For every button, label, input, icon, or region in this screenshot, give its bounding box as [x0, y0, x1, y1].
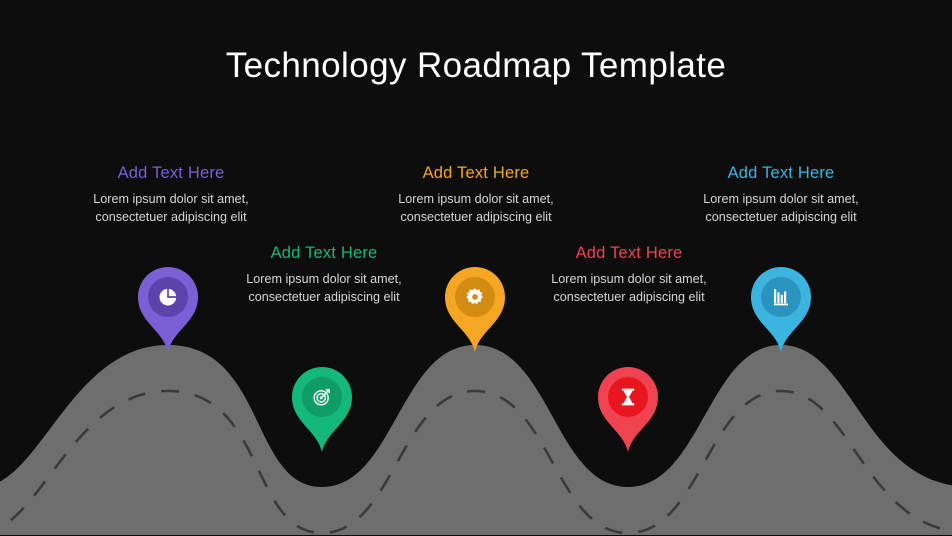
milestone-heading: Add Text Here — [224, 242, 424, 264]
hourglass-icon — [595, 379, 661, 415]
road-top-edge — [0, 345, 952, 487]
milestone-pin-3[interactable] — [442, 264, 508, 352]
milestone-body: Lorem ipsum dolor sit amet, consectetuer… — [224, 271, 424, 306]
bar-chart-icon — [748, 279, 814, 315]
milestone-heading: Add Text Here — [376, 162, 576, 184]
page-title: Technology Roadmap Template — [0, 44, 952, 88]
milestone-text-2: Add Text Here Lorem ipsum dolor sit amet… — [224, 242, 424, 306]
milestone-body: Lorem ipsum dolor sit amet, consectetuer… — [681, 191, 881, 226]
milestone-body: Lorem ipsum dolor sit amet, consectetuer… — [71, 191, 271, 226]
roadmap-slide: Technology Roadmap Template Add Text Her… — [0, 0, 952, 536]
road-dashed-centre-line — [0, 391, 952, 533]
milestone-pin-2[interactable] — [289, 364, 355, 452]
milestone-heading: Add Text Here — [529, 242, 729, 264]
milestone-text-4: Add Text Here Lorem ipsum dolor sit amet… — [529, 242, 729, 306]
milestone-heading: Add Text Here — [681, 162, 881, 184]
milestone-pin-5[interactable] — [748, 264, 814, 352]
road-surface — [0, 345, 952, 535]
target-icon — [289, 379, 355, 415]
milestone-heading: Add Text Here — [71, 162, 271, 184]
milestone-pin-1[interactable] — [135, 264, 201, 352]
pie-chart-icon — [135, 279, 201, 315]
milestone-text-3: Add Text Here Lorem ipsum dolor sit amet… — [376, 162, 576, 226]
milestone-text-5: Add Text Here Lorem ipsum dolor sit amet… — [681, 162, 881, 226]
milestone-body: Lorem ipsum dolor sit amet, consectetuer… — [376, 191, 576, 226]
milestone-body: Lorem ipsum dolor sit amet, consectetuer… — [529, 271, 729, 306]
milestone-text-1: Add Text Here Lorem ipsum dolor sit amet… — [71, 162, 271, 226]
milestone-pin-4[interactable] — [595, 364, 661, 452]
gear-icon — [442, 279, 508, 315]
